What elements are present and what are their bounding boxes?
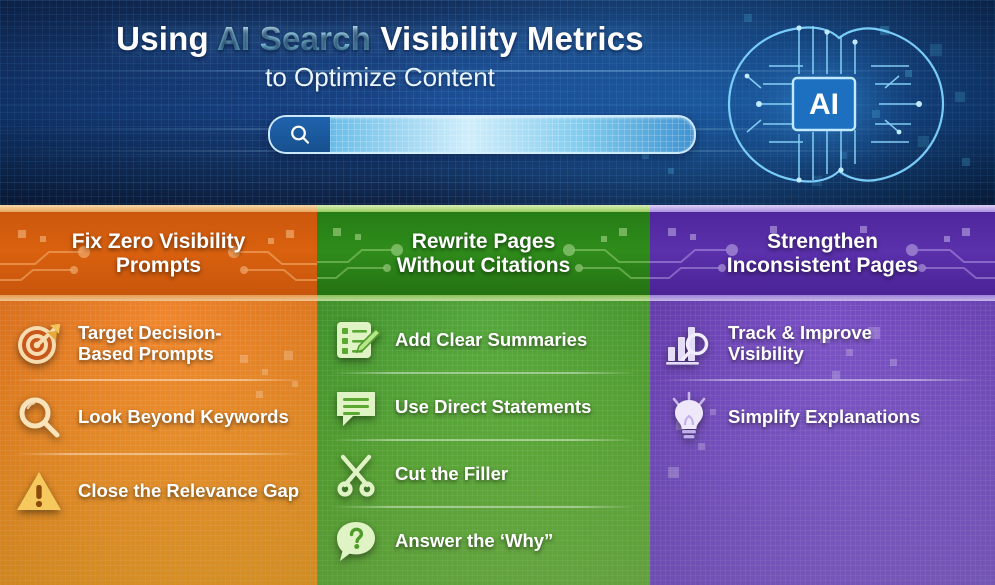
header-top-rule [317, 205, 650, 212]
question-bubble-icon [329, 514, 383, 568]
list-item-label: Answer the ‘Why” [395, 530, 553, 551]
list-item-label: Cut the Filler [395, 463, 508, 484]
panel-title: Rewrite Pages Without Citations [327, 212, 640, 295]
list-item-label: Close the Relevance Gap [78, 480, 299, 501]
list-item-label: Simplify Explanations [728, 406, 920, 427]
search-input[interactable] [336, 117, 686, 154]
panel-items: Track & Improve Visibility [650, 301, 995, 453]
list-item[interactable]: Cut the Filler [317, 441, 650, 506]
speech-bubble-icon [329, 380, 383, 434]
list-item[interactable]: Simplify Explanations [650, 381, 995, 453]
hero-banner: AI Using AI Search Visibility Metrics to… [0, 0, 995, 205]
list-item[interactable]: Use Direct Statements [317, 374, 650, 439]
list-item-label: Look Beyond Keywords [78, 406, 289, 427]
panel-header: Fix Zero Visibility Prompts [0, 205, 317, 301]
bar-chart-magnifier-icon [662, 316, 716, 370]
panels-row: Fix Zero Visibility Prompts [0, 205, 995, 585]
list-item[interactable]: Add Clear Summaries [317, 307, 650, 372]
magnifier-icon [12, 390, 66, 444]
panel-strengthen-inconsistent-pages: Strengthen Inconsistent Pages [650, 205, 995, 585]
header-top-rule [650, 205, 995, 212]
target-icon [12, 316, 66, 370]
panel-fix-zero-visibility-prompts: Fix Zero Visibility Prompts [0, 205, 317, 585]
brain-ai-label: AI [809, 88, 839, 121]
panel-title: Fix Zero Visibility Prompts [10, 212, 307, 295]
list-item[interactable]: Look Beyond Keywords [0, 381, 317, 453]
panel-items: Target Decision- Based Prompts Look Beyo… [0, 301, 317, 527]
panel-title: Strengthen Inconsistent Pages [660, 212, 985, 295]
panel-items: Add Clear Summaries [317, 301, 650, 573]
list-item[interactable]: Answer the ‘Why” [317, 508, 650, 573]
panel-header: Strengthen Inconsistent Pages [650, 205, 995, 301]
page-subtitle: to Optimize Content [0, 62, 760, 93]
list-item[interactable]: Close the Relevance Gap [0, 455, 317, 527]
list-item-label: Add Clear Summaries [395, 329, 587, 350]
list-item-label: Use Direct Statements [395, 396, 591, 417]
page-title: Using AI Search Visibility Metrics [0, 22, 760, 57]
title-part-3: Visibility Metrics [371, 20, 644, 57]
list-item[interactable]: Target Decision- Based Prompts [0, 307, 317, 379]
panel-header: Rewrite Pages Without Citations [317, 205, 650, 301]
search-icon[interactable] [270, 117, 330, 152]
infographic-root: AI Using AI Search Visibility Metrics to… [0, 0, 995, 585]
warning-triangle-icon [12, 464, 66, 518]
lightbulb-icon [662, 390, 716, 444]
scissors-icon [329, 447, 383, 501]
title-part-1: Using [116, 20, 217, 57]
checklist-pencil-icon [329, 313, 383, 367]
search-bar[interactable] [268, 115, 696, 154]
list-item-label: Target Decision- Based Prompts [78, 322, 222, 364]
title-part-accent: AI Search [217, 20, 371, 57]
hero-title-group: Using AI Search Visibility Metrics to Op… [0, 22, 760, 93]
header-top-rule [0, 205, 317, 212]
list-item[interactable]: Track & Improve Visibility [650, 307, 995, 379]
panel-rewrite-pages-without-citations: Rewrite Pages Without Citations [317, 205, 650, 585]
list-item-label: Track & Improve Visibility [728, 322, 872, 364]
